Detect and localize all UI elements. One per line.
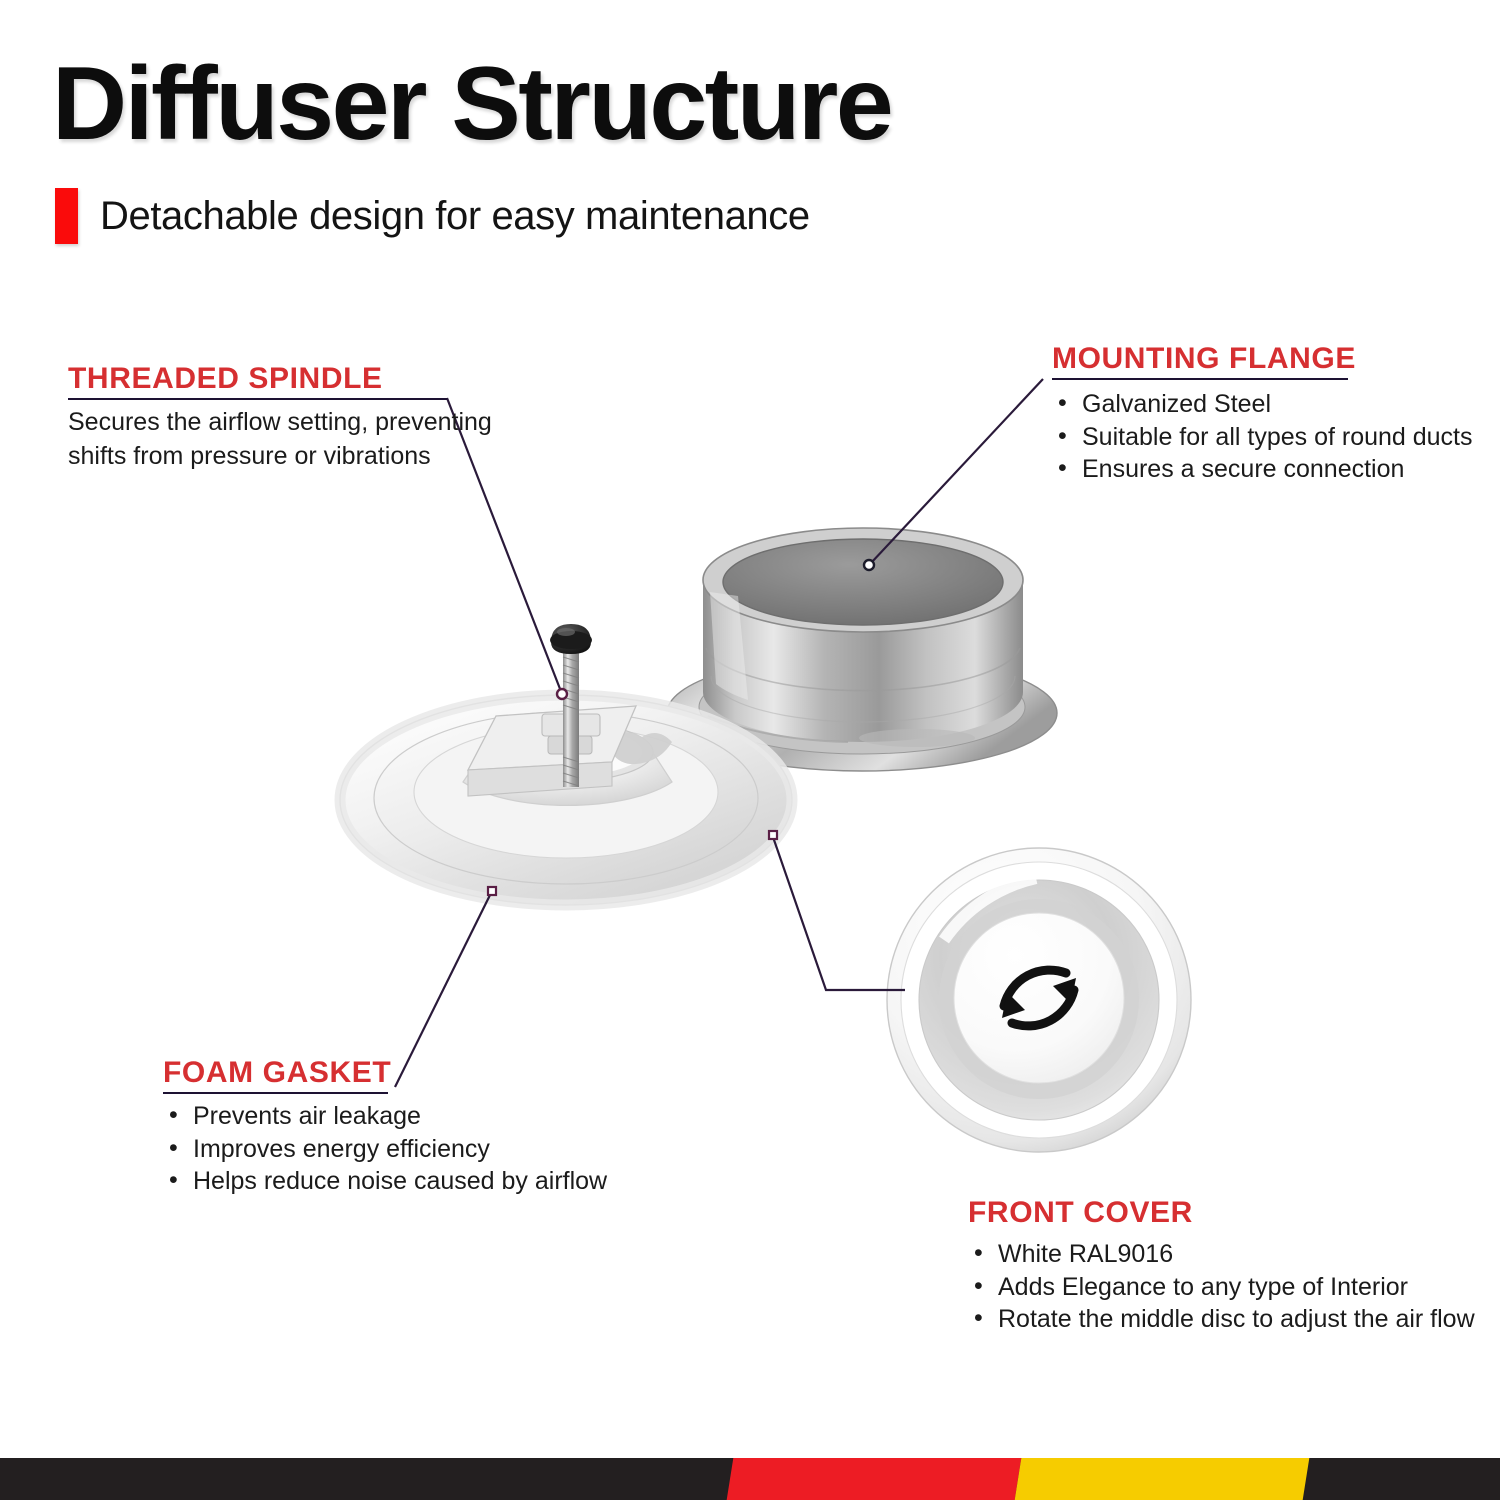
callout-bullets-mounting-flange: Galvanized Steel Suitable for all types … [1052, 388, 1473, 486]
bottom-bar-yellow-segment [1015, 1458, 1310, 1500]
callout-rule-foam-gasket [163, 1092, 388, 1094]
callout-heading-threaded-spindle: THREADED SPINDLE [68, 362, 383, 396]
callout-front-cover: FRONT COVER White RAL9016 Adds Elegance … [968, 1196, 1475, 1336]
callout-foam-gasket: FOAM GASKET Prevents air leakage Improve… [163, 1056, 607, 1198]
part-front-cover [887, 848, 1191, 1152]
bottom-bar-red-segment [727, 1458, 1022, 1500]
callout-rule-mounting-flange [1052, 378, 1348, 380]
callout-line-2: shifts from pressure or vibrations [68, 440, 492, 474]
list-item: Suitable for all types of round ducts [1052, 421, 1473, 454]
callout-heading-front-cover: FRONT COVER [968, 1196, 1193, 1230]
list-item: Rotate the middle disc to adjust the air… [968, 1303, 1475, 1336]
list-item: Ensures a secure connection [1052, 453, 1473, 486]
bottom-color-bar [0, 1458, 1500, 1500]
list-item: Helps reduce noise caused by airflow [163, 1165, 607, 1198]
callout-heading-foam-gasket: FOAM GASKET [163, 1056, 391, 1090]
list-item: Galvanized Steel [1052, 388, 1473, 421]
callout-mounting-flange: MOUNTING FLANGE Galvanized Steel Suitabl… [1052, 342, 1473, 486]
list-item: White RAL9016 [968, 1238, 1475, 1271]
infographic-page: Diffuser Structure Detachable design for… [0, 0, 1500, 1500]
callout-rule-threaded-spindle [68, 398, 447, 400]
callout-bullets-foam-gasket: Prevents air leakage Improves energy eff… [163, 1100, 607, 1198]
callout-heading-mounting-flange: MOUNTING FLANGE [1052, 342, 1356, 376]
list-item: Improves energy efficiency [163, 1133, 607, 1166]
callout-line-1: Secures the airflow setting, preventing [68, 406, 492, 440]
callout-threaded-spindle: THREADED SPINDLE Secures the airflow set… [68, 362, 492, 473]
list-item: Prevents air leakage [163, 1100, 607, 1133]
list-item: Adds Elegance to any type of Interior [968, 1271, 1475, 1304]
callout-bullets-front-cover: White RAL9016 Adds Elegance to any type … [968, 1238, 1475, 1336]
